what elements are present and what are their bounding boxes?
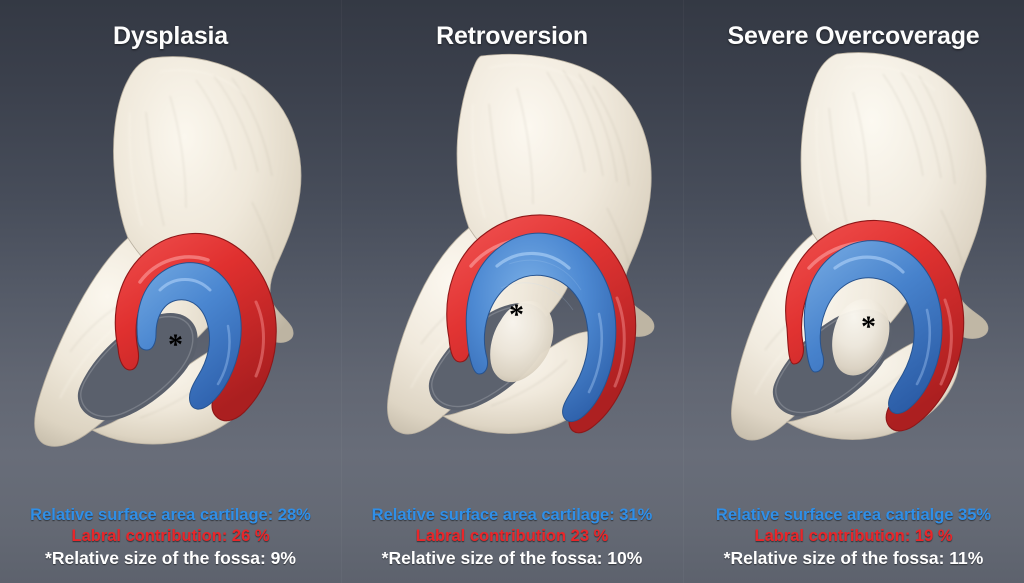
hemipelvis-render-severe-overcoverage: * (683, 52, 1024, 492)
caption-fossa: *Relative size of the fossa: 10% (341, 548, 683, 569)
panel-severe-overcoverage: Severe Overcoverage (683, 0, 1024, 583)
figure-canvas: Dysplasia (0, 0, 1024, 583)
caption-block-severe-overcoverage: Relative surface area cartialge 35% Labr… (683, 506, 1024, 569)
caption-labral: Labral contribution: 26 % (0, 527, 341, 546)
hemipelvis-render-retroversion: * (341, 52, 683, 492)
panel-title-severe-overcoverage: Severe Overcoverage (728, 22, 980, 51)
caption-cartilage: Relative surface area cartialge 35% (683, 506, 1024, 525)
panel-dysplasia: Dysplasia (0, 0, 341, 583)
caption-block-dysplasia: Relative surface area cartilage: 28% Lab… (0, 506, 341, 569)
caption-block-retroversion: Relative surface area cartilage: 31% Lab… (341, 506, 683, 569)
panel-retroversion: Retroversion (341, 0, 683, 583)
hemipelvis-render-dysplasia: * (0, 52, 341, 492)
panel-title-retroversion: Retroversion (436, 22, 588, 51)
caption-labral: Labral contribution: 19 % (683, 527, 1024, 546)
caption-cartilage: Relative surface area cartilage: 28% (0, 506, 341, 525)
caption-fossa: *Relative size of the fossa: 9% (0, 548, 341, 569)
caption-cartilage: Relative surface area cartilage: 31% (341, 506, 683, 525)
caption-labral: Labral contribution 23 % (341, 527, 683, 546)
caption-fossa: *Relative size of the fossa: 11% (683, 548, 1024, 569)
panel-title-dysplasia: Dysplasia (113, 22, 228, 51)
